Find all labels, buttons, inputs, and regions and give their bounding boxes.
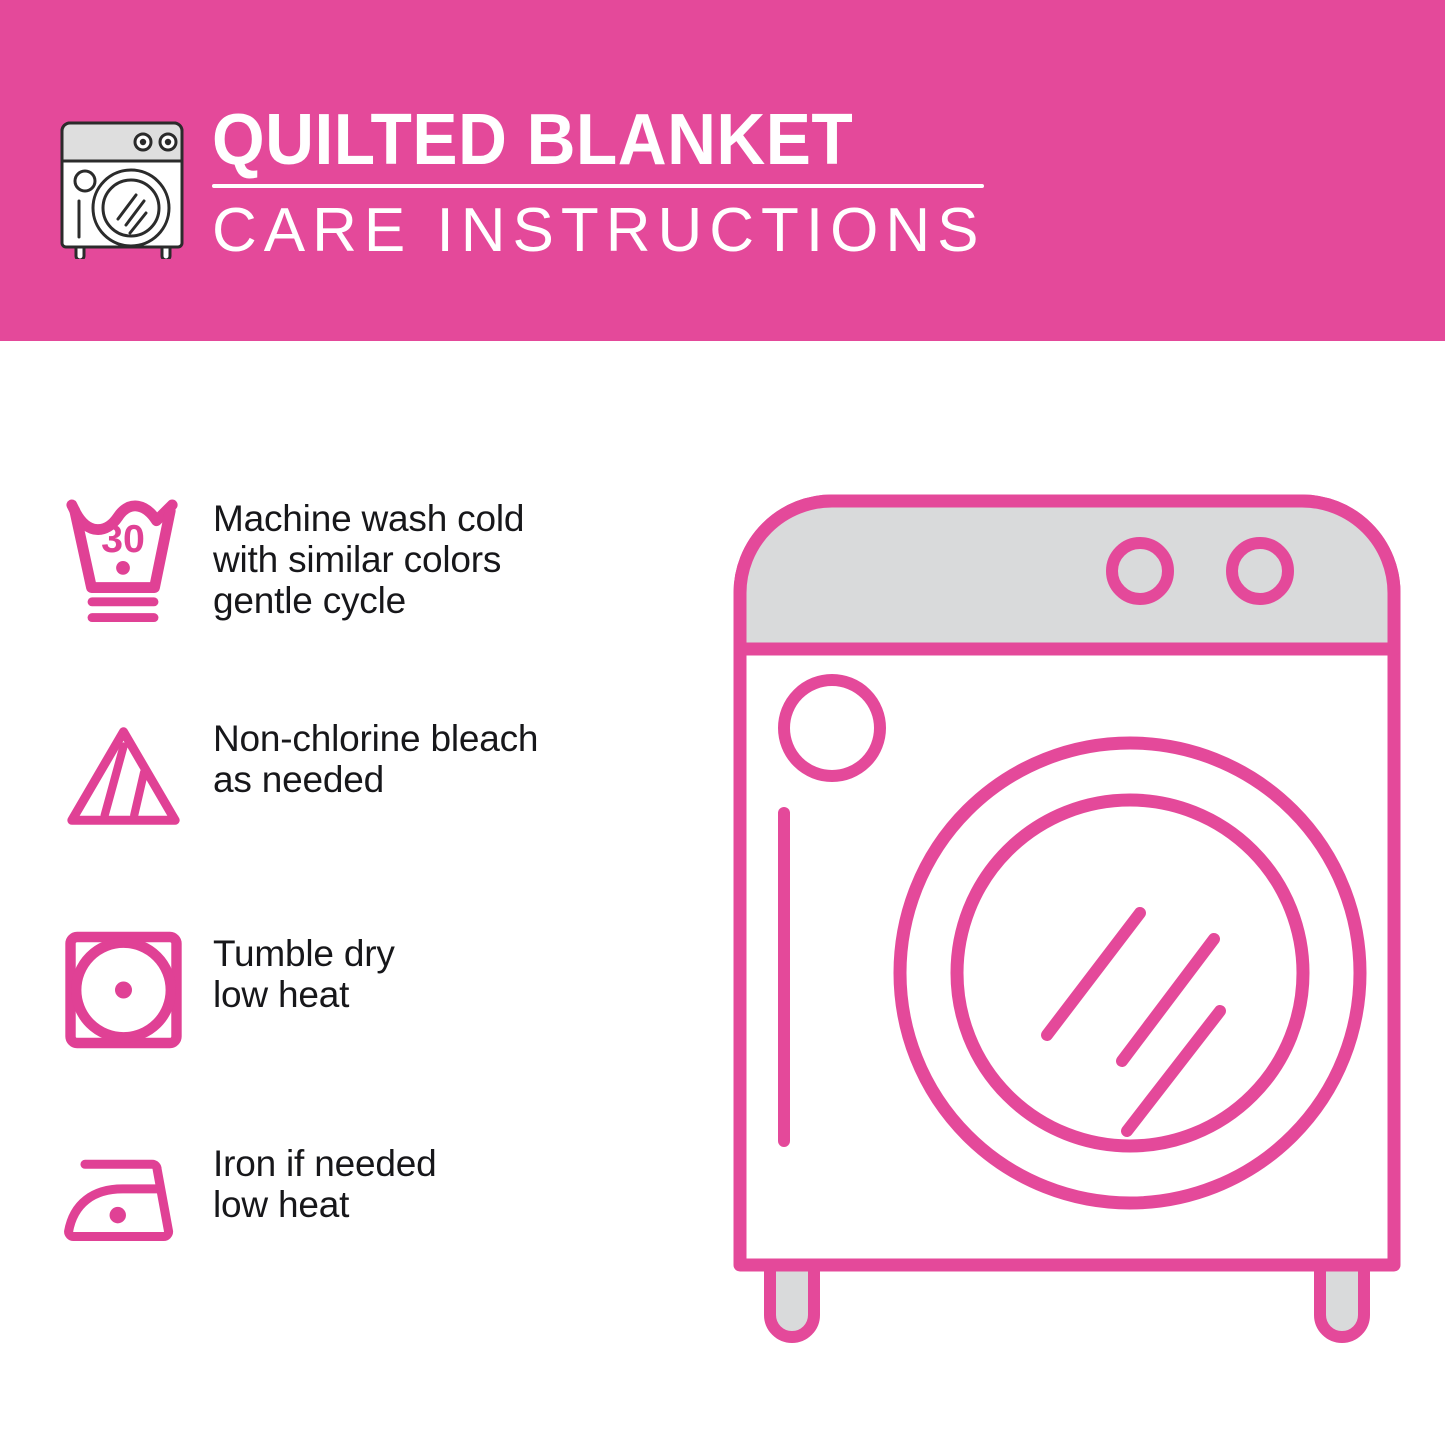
wash-temperature-label: 30	[101, 517, 145, 561]
care-text-line: Non-chlorine bleach	[213, 718, 538, 759]
care-item-text: Machine wash cold with similar colors ge…	[213, 490, 524, 621]
care-text-line: Machine wash cold	[213, 498, 524, 539]
wash-tub-icon: 30	[0, 490, 185, 635]
header-title-group: QUILTED BLANKET CARE INSTRUCTIONS	[212, 103, 985, 264]
detergent-button[interactable]	[784, 680, 880, 776]
care-text-line: low heat	[213, 974, 395, 1015]
care-item-iron: Iron if needed low heat	[0, 1135, 700, 1260]
iron-icon	[0, 1135, 185, 1260]
care-item-text: Non-chlorine bleach as needed	[213, 710, 538, 800]
care-text-line: as needed	[213, 759, 538, 800]
care-text-line: Iron if needed	[213, 1143, 436, 1184]
knob-right[interactable]	[1232, 543, 1288, 599]
care-item-bleach: Non-chlorine bleach as needed	[0, 710, 700, 842]
title-divider	[212, 184, 984, 188]
leg-right	[1320, 1263, 1364, 1337]
tumble-dry-icon	[0, 925, 185, 1055]
care-item-tumble-dry: Tumble dry low heat	[0, 925, 700, 1055]
wash-dot	[116, 561, 130, 575]
header-content: QUILTED BLANKET CARE INSTRUCTIONS	[58, 103, 985, 264]
page-subtitle: CARE INSTRUCTIONS	[212, 198, 985, 264]
bleach-triangle-icon	[0, 710, 185, 842]
washing-machine-icon	[58, 107, 190, 259]
page-title: QUILTED BLANKET	[212, 103, 939, 177]
page-header: QUILTED BLANKET CARE INSTRUCTIONS	[0, 0, 1445, 341]
wash-bar-1	[88, 597, 159, 606]
drum-inner-ring	[957, 800, 1303, 1146]
care-instructions-page: QUILTED BLANKET CARE INSTRUCTIONS 30 M	[0, 0, 1445, 1445]
care-item-text: Tumble dry low heat	[213, 925, 395, 1015]
wash-bar-2	[88, 613, 159, 622]
care-item-machine-wash: 30 Machine wash cold with similar colors…	[0, 490, 700, 635]
care-text-line: gentle cycle	[213, 580, 524, 621]
leg-left	[770, 1263, 814, 1337]
control-panel	[740, 501, 1394, 649]
care-text-line: Tumble dry	[213, 933, 395, 974]
washing-machine-illustration	[722, 483, 1412, 1363]
iron-dot	[110, 1207, 126, 1223]
care-text-line: low heat	[213, 1184, 436, 1225]
care-text-line: with similar colors	[213, 539, 524, 580]
knob-left[interactable]	[1112, 543, 1168, 599]
care-item-text: Iron if needed low heat	[213, 1135, 436, 1225]
bleach-stripe-2	[134, 773, 144, 816]
tumble-dry-dot	[115, 981, 132, 998]
